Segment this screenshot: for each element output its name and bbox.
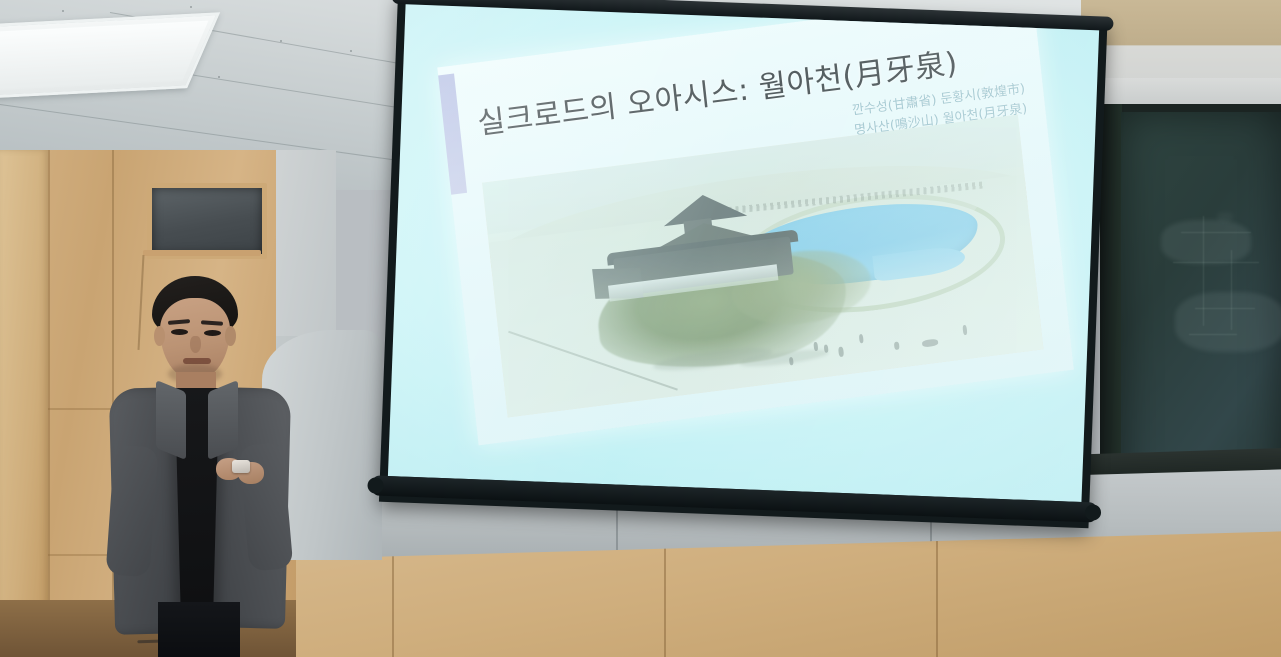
presenter-collar-left bbox=[156, 380, 186, 460]
slide-accent-bar bbox=[438, 73, 467, 194]
presenter-pants bbox=[158, 602, 240, 657]
lecture-hall-scene: 실크로드의 오아시스: 월아천(月牙泉) 깐수성(甘肅省) 둔황시(敦煌市) 명… bbox=[0, 0, 1281, 657]
photo-visitor bbox=[789, 357, 794, 365]
ceiling-light-diffuser bbox=[0, 21, 209, 92]
presenter-eye-right bbox=[204, 330, 221, 336]
presentation-remote[interactable] bbox=[232, 460, 250, 473]
wood-wall-pillar bbox=[0, 150, 48, 657]
presenter-eye-left bbox=[171, 329, 188, 335]
photo-visitor bbox=[838, 347, 844, 358]
presenter-ear-right bbox=[225, 326, 236, 346]
presenter bbox=[104, 276, 304, 657]
ceiling-light-fixture bbox=[0, 12, 220, 99]
slide-photo-crescent-lake: 명사산(鳴沙山) 월아천(月牙泉) bbox=[482, 115, 1043, 418]
presentation-slide: 실크로드의 오아시스: 월아천(月牙泉) 깐수성(甘肅省) 둔황시(敦煌市) 명… bbox=[437, 4, 1074, 445]
photo-visitor bbox=[824, 344, 829, 352]
presenter-collar-right bbox=[208, 380, 238, 460]
projector-screen[interactable]: 실크로드의 오아시스: 월아천(月牙泉) 깐수성(甘肅省) 둔황시(敦煌市) 명… bbox=[379, 0, 1108, 530]
transom-window-sill bbox=[143, 250, 261, 256]
presenter-sleeve-left bbox=[106, 445, 159, 578]
screen-surface: 실크로드의 오아시스: 월아천(月牙泉) 깐수성(甘肅省) 둔황시(敦煌市) 명… bbox=[388, 4, 1099, 502]
presenter-nose bbox=[190, 336, 201, 353]
presenter-ear-left bbox=[154, 326, 165, 346]
transom-window bbox=[147, 183, 267, 259]
photo-visitor bbox=[894, 341, 900, 350]
